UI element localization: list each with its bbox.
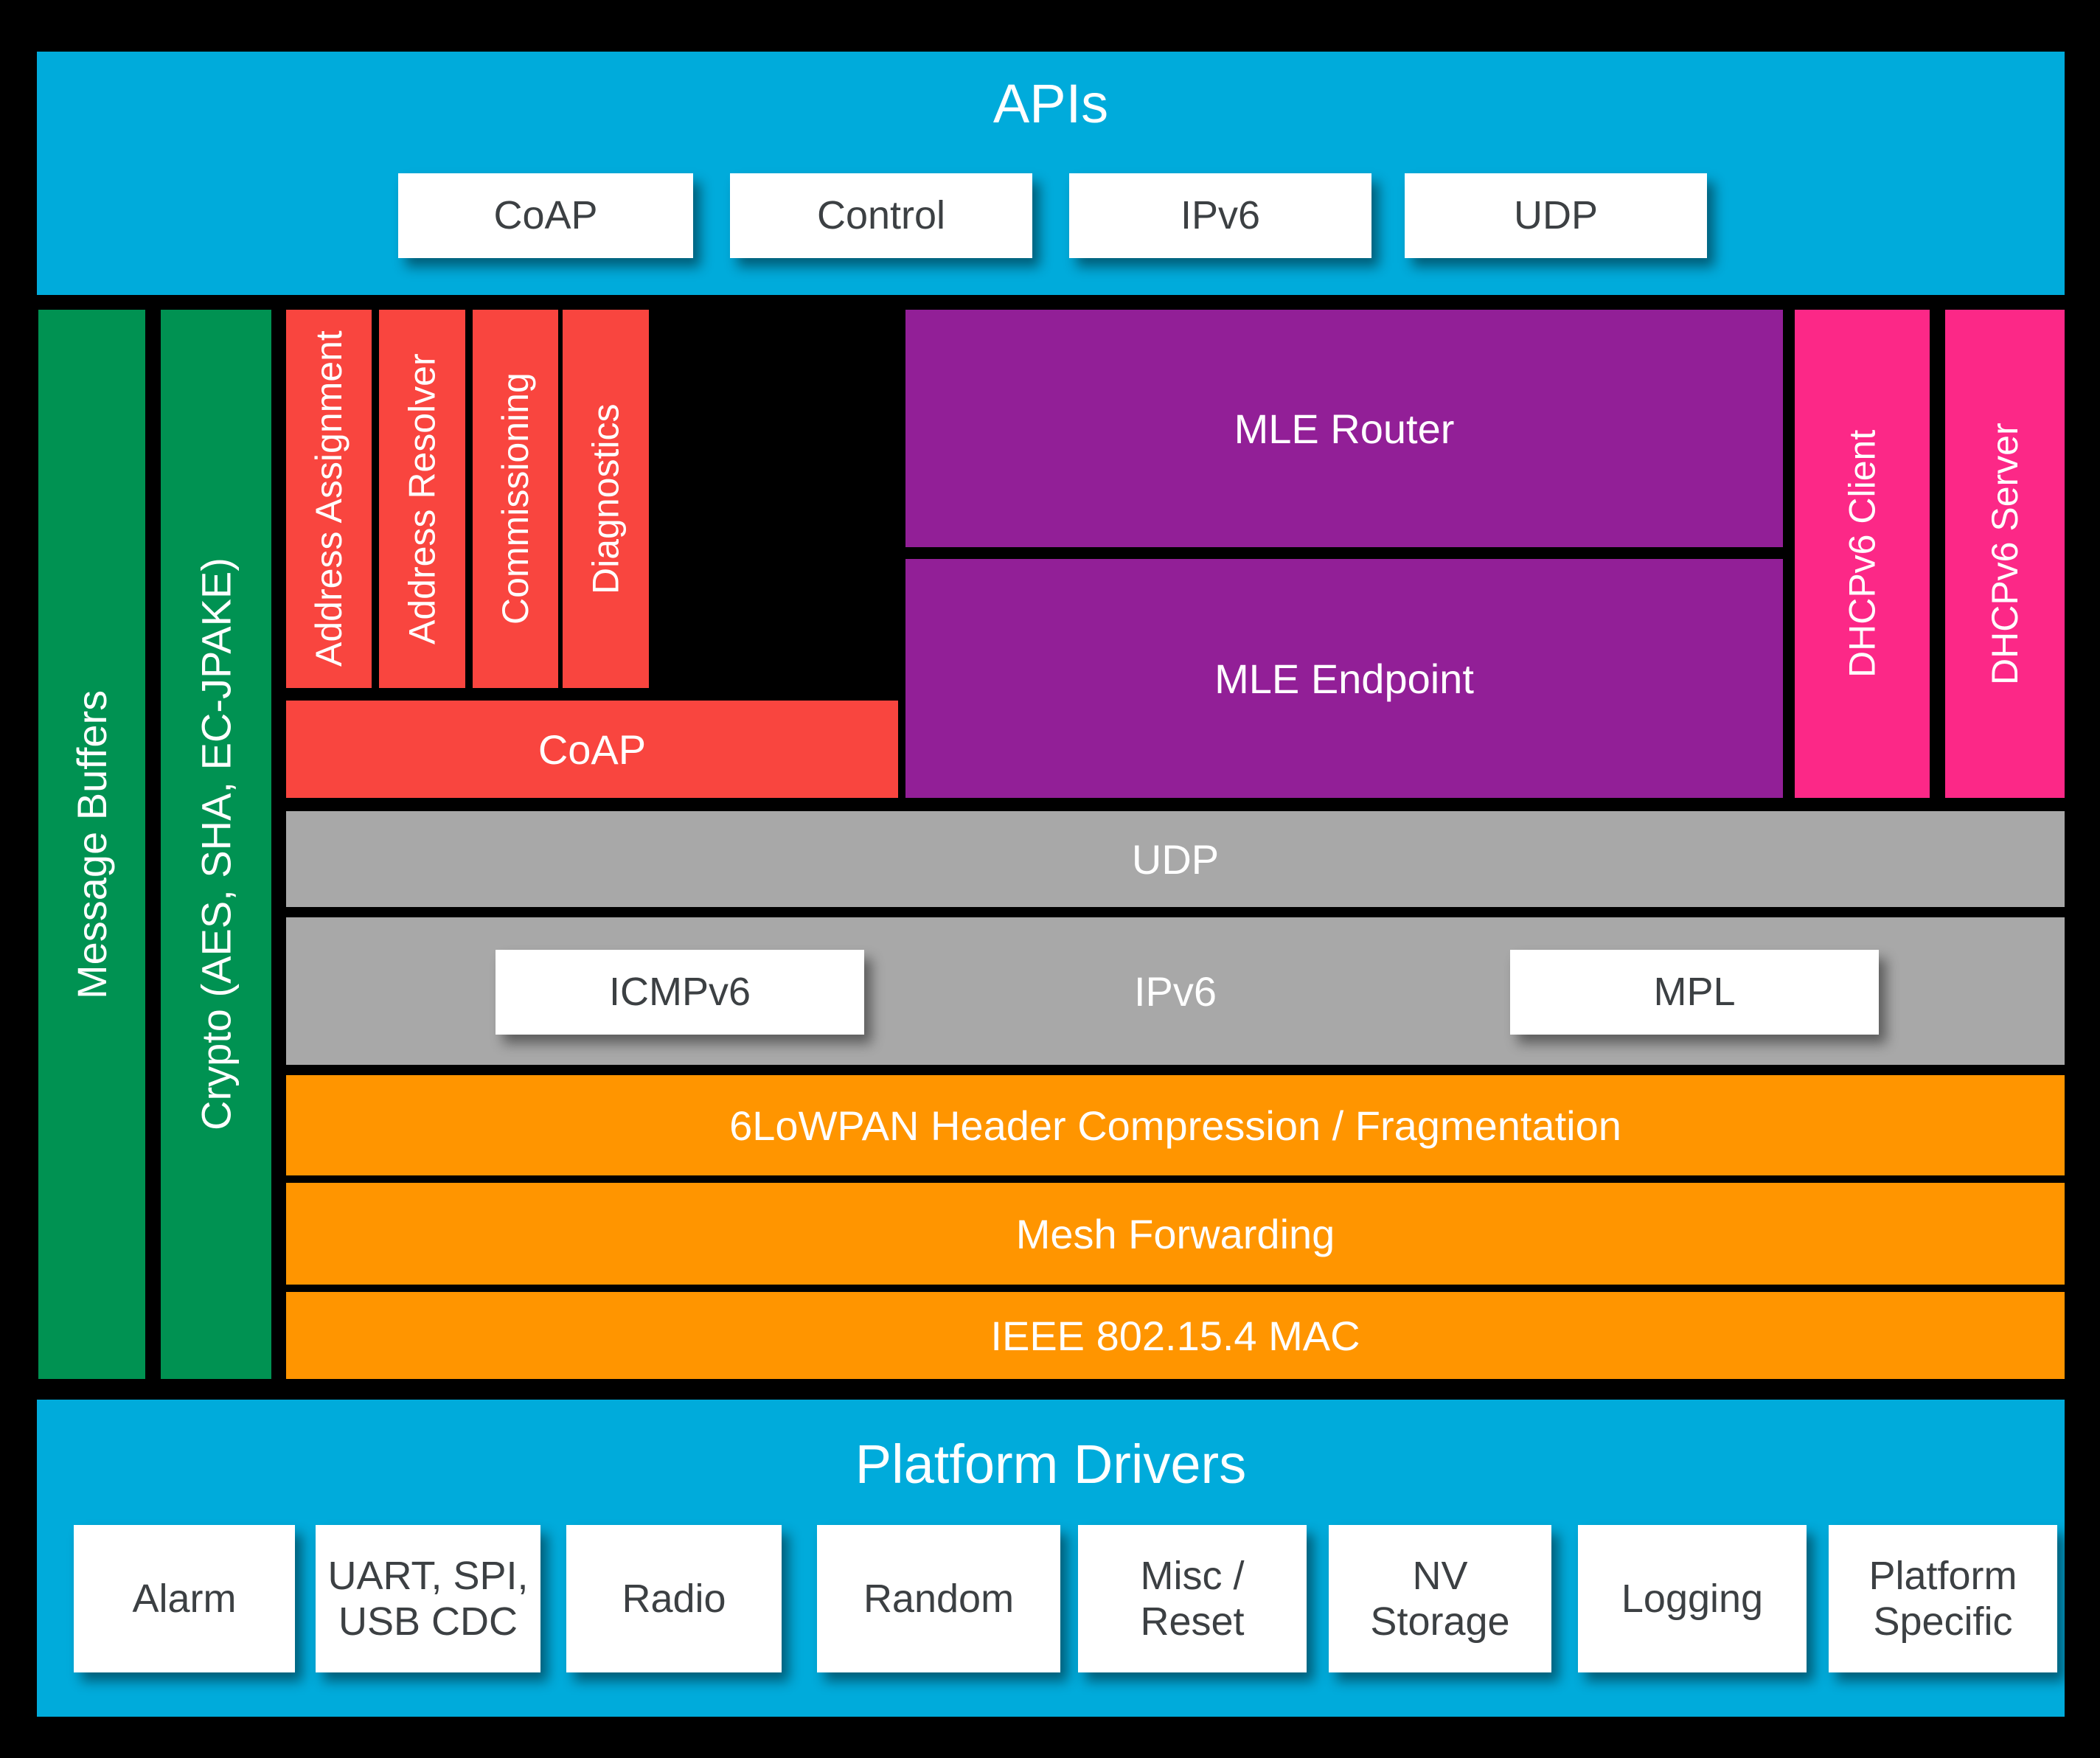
platform-card-misc-reset[interactable]: Misc / Reset bbox=[1078, 1525, 1307, 1672]
mle-endpoint: MLE Endpoint bbox=[905, 559, 1783, 798]
layer-mesh-forwarding: Mesh Forwarding bbox=[286, 1183, 2065, 1285]
dhcpv6-client: DHCPv6 Client bbox=[1795, 310, 1930, 798]
layer-6lowpan: 6LoWPAN Header Compression / Fragmentati… bbox=[286, 1075, 2065, 1175]
layer-ieee-mac: IEEE 802.15.4 MAC bbox=[286, 1292, 2065, 1379]
column-message-buffers: Message Buffers bbox=[38, 310, 145, 1379]
api-card-ipv6[interactable]: IPv6 bbox=[1069, 173, 1371, 258]
mle-router: MLE Router bbox=[905, 310, 1783, 547]
platform-card-radio[interactable]: Radio bbox=[566, 1525, 782, 1672]
platform-card-platform-specific[interactable]: Platform Specific bbox=[1829, 1525, 2057, 1672]
api-card-control[interactable]: Control bbox=[730, 173, 1032, 258]
ipv6-card-mpl[interactable]: MPL bbox=[1510, 950, 1879, 1035]
api-layer-title: APIs bbox=[37, 74, 2065, 133]
platform-card-logging[interactable]: Logging bbox=[1578, 1525, 1807, 1672]
column-crypto: Crypto (AES, SHA, EC-JPAKE) bbox=[161, 310, 271, 1379]
stack-architecture-diagram: APIs CoAP Control IPv6 UDP Message Buffe… bbox=[0, 0, 2100, 1758]
platform-card-uart-spi-usb-cdc[interactable]: UART, SPI, USB CDC bbox=[316, 1525, 540, 1672]
dhcpv6-server: DHCPv6 Server bbox=[1945, 310, 2065, 798]
ipv6-card-icmpv6[interactable]: ICMPv6 bbox=[496, 950, 864, 1035]
api-card-coap[interactable]: CoAP bbox=[398, 173, 693, 258]
service-address-resolver: Address Resolver bbox=[379, 310, 465, 688]
ipv6-row-label: IPv6 bbox=[1134, 967, 1217, 1015]
platform-card-random[interactable]: Random bbox=[817, 1525, 1060, 1672]
udp-row: UDP bbox=[286, 811, 2065, 907]
api-card-udp[interactable]: UDP bbox=[1405, 173, 1707, 258]
service-diagnostics: Diagnostics bbox=[563, 310, 649, 688]
platform-drivers-title: Platform Drivers bbox=[37, 1431, 2065, 1497]
service-commissioning: Commissioning bbox=[473, 310, 558, 688]
platform-card-alarm[interactable]: Alarm bbox=[74, 1525, 295, 1672]
coap-row: CoAP bbox=[286, 701, 898, 798]
platform-card-nv-storage[interactable]: NV Storage bbox=[1329, 1525, 1551, 1672]
service-address-assignment: Address Assignment bbox=[286, 310, 372, 688]
